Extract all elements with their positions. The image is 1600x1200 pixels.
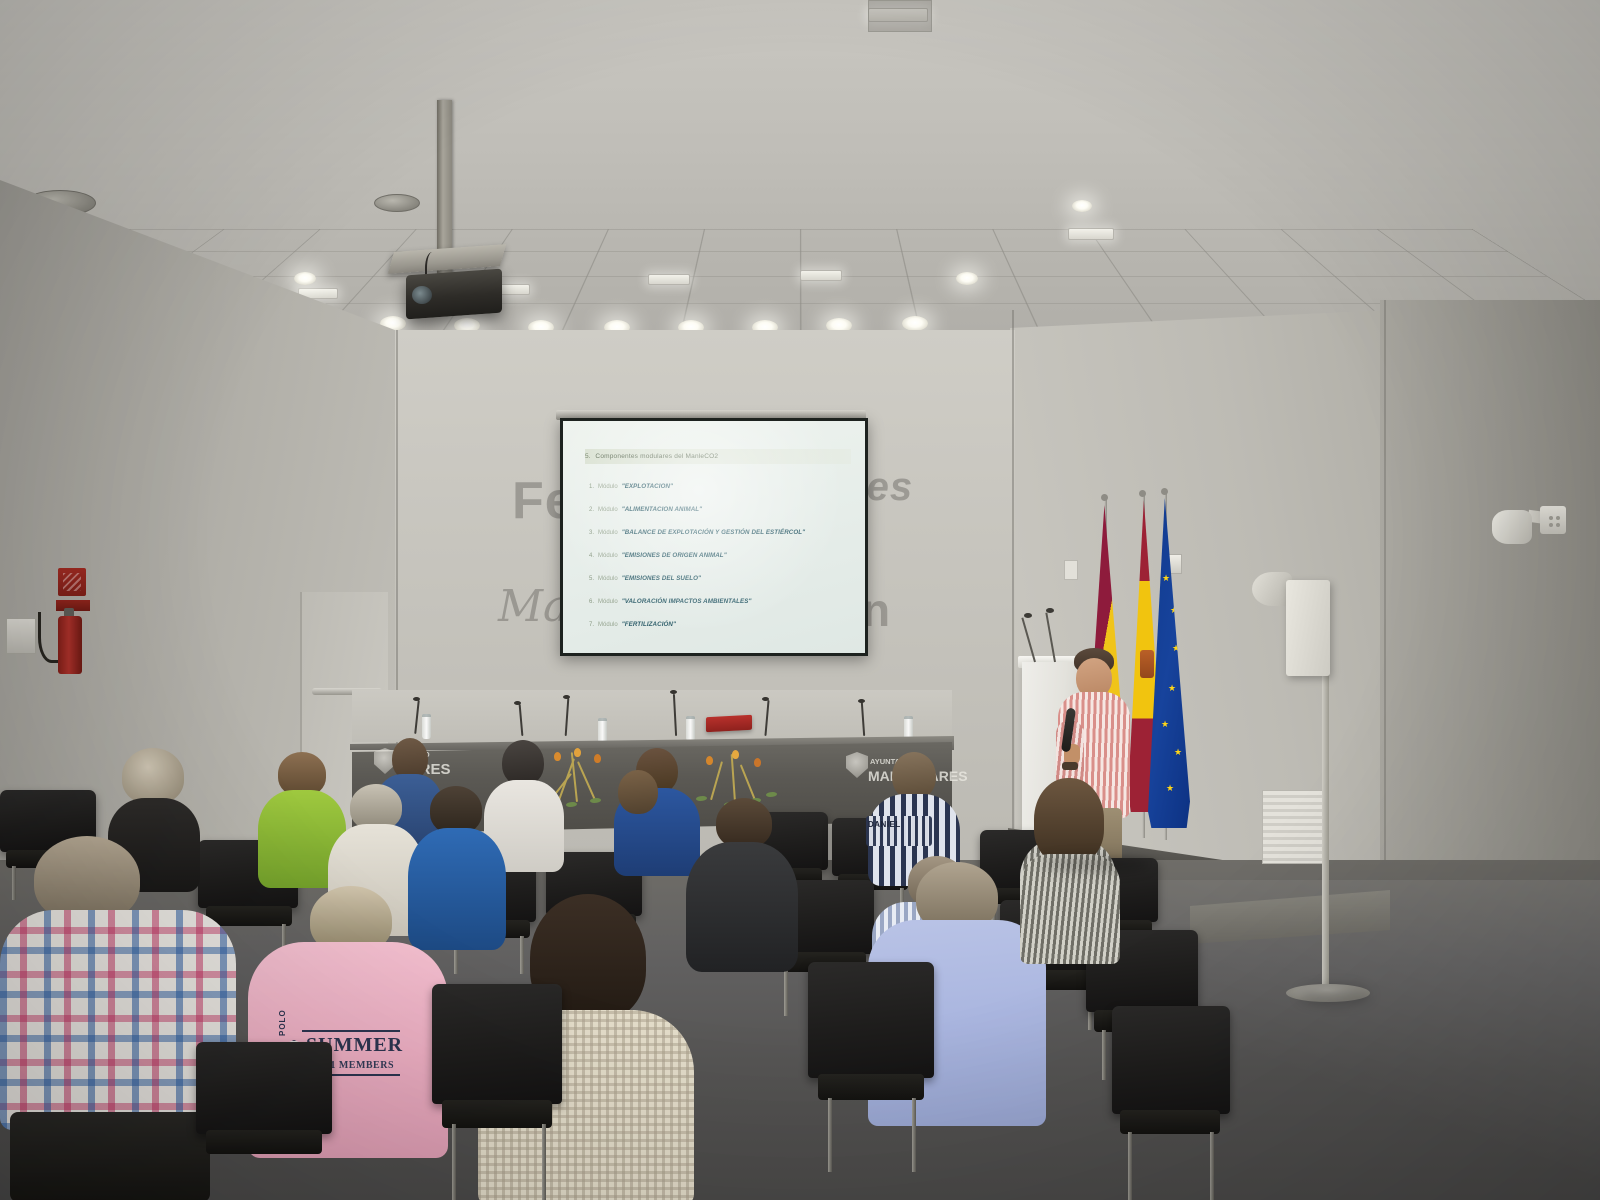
wall-camera-icon: [1492, 510, 1532, 544]
red-folder: [706, 715, 752, 732]
eu-star-icon: ★: [1161, 720, 1169, 729]
slide-row-title: "VALORACIÓN IMPACTOS AMBIENTALES": [622, 598, 752, 605]
slide-row-number: 5.: [589, 576, 598, 582]
slide-row-label: Módulo: [598, 507, 618, 513]
slide-header-text: Componentes modulares del ManleCO2: [595, 453, 718, 460]
head: [618, 770, 658, 814]
lectern-microphone-head-icon: [1046, 608, 1054, 613]
camera-led-icon: [1549, 516, 1553, 520]
trousers: [10, 1112, 210, 1200]
slide-row-label: Módulo: [598, 622, 618, 628]
slide-content: 5. Componentes modulares del ManleCO2 1.…: [563, 421, 865, 653]
ceiling-downlight: [1072, 200, 1092, 212]
flagpole-finial-icon: [1101, 494, 1108, 501]
slide-row: 7. Módulo "FERTILIZACIÓN": [589, 621, 676, 628]
wall-corner-seam: [1012, 310, 1014, 850]
shadow: [1040, 856, 1150, 872]
loudspeaker-cabinet: [1286, 580, 1330, 676]
flag-coat-of-arms-icon: [1140, 650, 1154, 678]
slide-row-title: "ALIMENTACION ANIMAL": [622, 506, 703, 513]
wall-radiator: [1262, 790, 1326, 864]
water-bottle: [598, 718, 607, 743]
chair[interactable]: [1112, 1006, 1230, 1200]
head: [892, 752, 936, 800]
camera-led-icon: [1556, 516, 1560, 520]
shirt-print-text: DANIEL: [868, 820, 901, 829]
eu-star-icon: ★: [1174, 748, 1182, 757]
chair[interactable]: [432, 984, 562, 1200]
slide-row-number: 7.: [589, 622, 598, 628]
slide-row-label: Módulo: [598, 484, 618, 490]
speaker-stand-pole: [1322, 640, 1329, 990]
water-bottle: [686, 716, 695, 741]
flagpole-finial-icon: [1161, 488, 1168, 495]
strip-light: [1068, 228, 1114, 240]
slide-row-number: 3.: [589, 530, 598, 536]
water-bottle: [422, 714, 431, 739]
eu-star-icon: ★: [1168, 684, 1176, 693]
chair[interactable]: [808, 962, 934, 1172]
fire-extinguisher-sign-glyph: [63, 573, 81, 591]
shadow: [1300, 986, 1370, 1004]
ceiling-hatch: [868, 0, 932, 32]
eu-star-icon: ★: [1166, 784, 1174, 793]
slide-row-label: Módulo: [598, 553, 618, 559]
slide-row-title: "EMISIONES DE ORIGEN ANIMAL": [622, 552, 727, 559]
ceiling-downlight: [956, 272, 978, 285]
slide-row-number: 4.: [589, 553, 598, 559]
wall-camera-mount: [1540, 506, 1566, 534]
slide-row-number: 6.: [589, 599, 598, 605]
audience-member: [686, 798, 798, 968]
table-microphone-head-icon: [858, 699, 865, 703]
table-microphone-head-icon: [514, 701, 521, 705]
slide-row-title: "EMISIONES DEL SUELO": [622, 575, 701, 582]
chair[interactable]: [196, 1042, 332, 1200]
slide-row-label: Módulo: [598, 576, 618, 582]
strip-light: [648, 274, 690, 285]
slide-row: 5. Módulo "EMISIONES DEL SUELO": [589, 575, 701, 582]
table-microphone-head-icon: [762, 697, 769, 701]
camera-led-icon: [1549, 523, 1553, 527]
slide-row: 6. Módulo "VALORACIÓN IMPACTOS AMBIENTAL…: [589, 598, 752, 605]
hair: [1034, 778, 1104, 864]
slide-row-number: 2.: [589, 507, 598, 513]
electrical-box: [6, 618, 36, 654]
slide-row: 1. Módulo "EXPLOTACION": [589, 483, 673, 490]
camera-led-icon: [1556, 523, 1560, 527]
wall-corner-seam: [1384, 300, 1386, 920]
hair: [430, 786, 482, 834]
slide-row: 4. Módulo "EMISIONES DE ORIGEN ANIMAL": [589, 552, 727, 559]
polo-brand-text: POLO: [278, 1009, 287, 1036]
ceiling-vent: [374, 194, 420, 212]
wall-switch-plate[interactable]: [1064, 560, 1078, 580]
slide-row-title: "EXPLOTACION": [622, 483, 673, 490]
torso: [686, 842, 798, 972]
lectern-microphone-head-icon: [1024, 613, 1032, 618]
hair: [122, 748, 184, 804]
audience-member: [600, 770, 682, 880]
slide-row-number: 1.: [589, 484, 598, 490]
slide-row: 2. Módulo "ALIMENTACION ANIMAL": [589, 506, 702, 513]
slide-row: 3. Módulo "BALANCE DE EXPLOTACIÓN Y GEST…: [589, 529, 805, 536]
projector-lens-icon: [412, 286, 432, 304]
slide-header: 5. Componentes modulares del ManleCO2: [585, 449, 851, 464]
slide-row-label: Módulo: [598, 530, 618, 536]
projection-screen: 5. Componentes modulares del ManleCO2 1.…: [560, 418, 868, 656]
table-microphone-head-icon: [563, 695, 570, 699]
slide-header-number: 5.: [585, 453, 590, 460]
ceiling-downlight: [902, 316, 928, 331]
eu-star-icon: ★: [1162, 574, 1170, 583]
table-microphone-head-icon: [413, 697, 420, 701]
slide-row-title: "FERTILIZACIÓN": [622, 621, 676, 628]
slide-row-label: Módulo: [598, 599, 618, 605]
hair: [716, 798, 772, 848]
conference-room-photo: Fer res Man n 5. Componentes modulares d…: [0, 0, 1600, 1200]
table-microphone-head-icon: [670, 690, 677, 694]
slide-row-title: "BALANCE DE EXPLOTACIÓN Y GESTIÓN DEL ES…: [622, 529, 805, 536]
ceiling-downlight: [294, 272, 316, 285]
fire-extinguisher: [58, 616, 82, 674]
strip-light: [800, 270, 842, 281]
wristwatch: [1062, 762, 1078, 770]
flagpole-finial-icon: [1139, 490, 1146, 497]
